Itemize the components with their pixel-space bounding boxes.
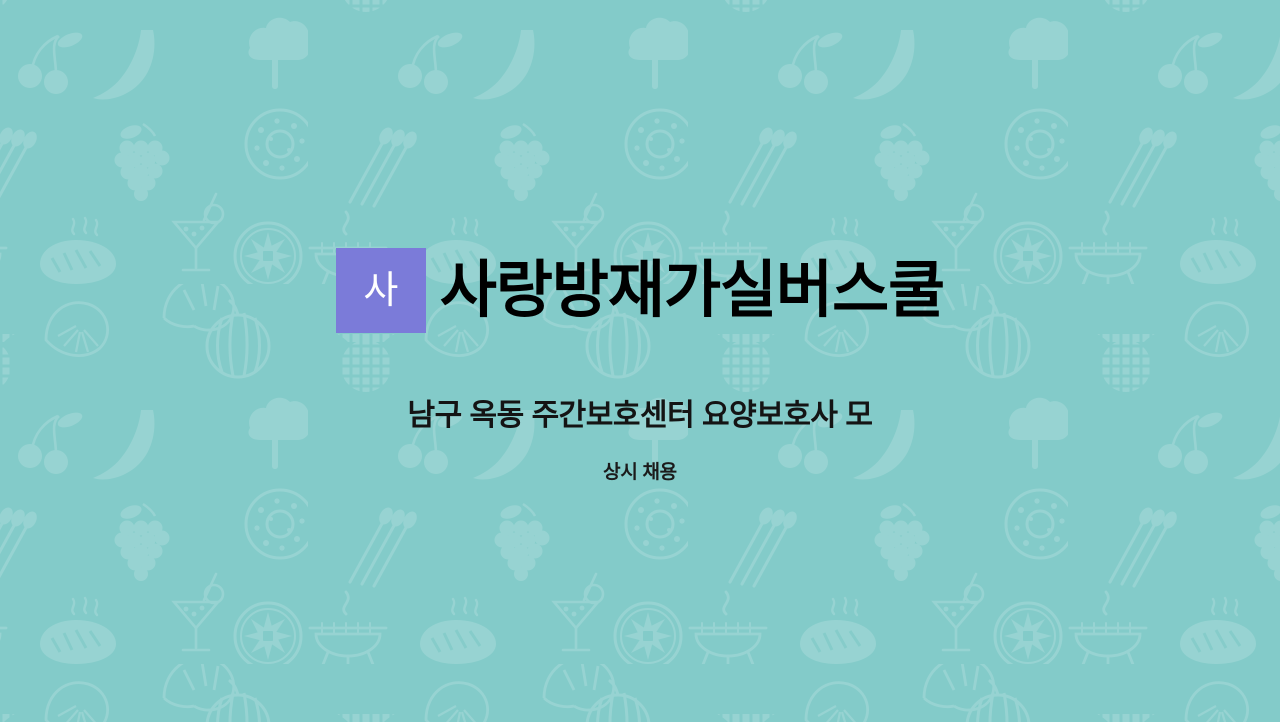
job-posting-card: 사 사랑방재가실버스쿨 남구 옥동 주간보호센터 요양보호사 모 상시 채용 <box>0 0 1280 722</box>
company-logo-initial: 사 <box>363 272 398 310</box>
posting-content: 사 사랑방재가실버스쿨 남구 옥동 주간보호센터 요양보호사 모 상시 채용 <box>0 0 1280 722</box>
company-name[interactable]: 사랑방재가실버스쿨 <box>440 258 944 323</box>
recruitment-status: 상시 채용 <box>0 457 1280 484</box>
company-header: 사 사랑방재가실버스쿨 <box>0 248 1280 333</box>
company-logo-badge[interactable]: 사 <box>336 248 426 333</box>
job-title[interactable]: 남구 옥동 주간보호센터 요양보호사 모 <box>0 390 1280 434</box>
